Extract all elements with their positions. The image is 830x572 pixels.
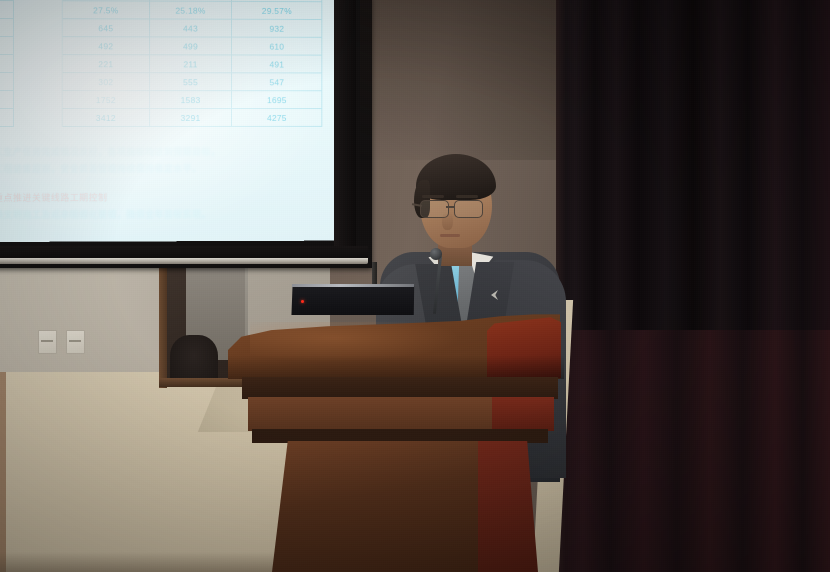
- cell-value: 555: [149, 73, 231, 91]
- eyeglasses-bridge: [446, 206, 455, 208]
- laptop-lid-edge: [292, 284, 414, 287]
- podium-top-red-panel: [487, 316, 561, 378]
- doorway-frame-left: [159, 268, 167, 388]
- row-label: 土工: [0, 18, 14, 36]
- presentation-photo: 合计 4050 3841 5478 27.5% 25.18% 29.57%: [0, 0, 830, 572]
- laptop-computer[interactable]: [291, 285, 414, 315]
- table-row: 石方 492 499 610: [0, 36, 322, 55]
- cell-value: 29.57%: [232, 1, 322, 19]
- podium-trim-band-lower: [252, 429, 548, 443]
- row-spacer: [14, 55, 63, 73]
- cell-value: 610: [232, 37, 322, 55]
- eyeglasses-lens-right: [454, 200, 483, 218]
- cell-value: 1752: [62, 91, 149, 109]
- cell-value: 221: [62, 55, 149, 73]
- row-spacer: [14, 73, 63, 91]
- podium-mid-red-panel: [492, 397, 554, 431]
- stage-riser-edge: [0, 372, 6, 572]
- cell-value: 491: [232, 55, 322, 73]
- cell-value: 3291: [149, 109, 231, 127]
- table-row: 27.5% 25.18% 29.57%: [0, 0, 322, 19]
- stage-floor-shadow: [0, 552, 300, 572]
- doorway-frame-bottom: [159, 378, 251, 387]
- slide-note-gap: [0, 177, 313, 190]
- cell-value: 3412: [62, 109, 149, 127]
- row-label: 钢筋工: [0, 72, 14, 90]
- row-spacer: [14, 91, 63, 109]
- row-spacer: [14, 109, 63, 127]
- slide-note-line: 本年度施工生产任务完成情况良好，各项指标均达到预期目标，: [0, 144, 313, 161]
- laptop-power-led-icon: [301, 300, 304, 303]
- table-row: 小计 3412 3291 4275: [0, 108, 322, 126]
- row-label: [0, 0, 14, 18]
- table-row: 土工 645 443 932: [0, 18, 322, 37]
- slide-note-line: 其中主体工程进度超前，安全质量管理持续保持稳定水平。: [0, 161, 313, 179]
- row-spacer: [14, 19, 63, 37]
- cell-value: 492: [62, 37, 149, 55]
- slide-data-table: 合计 4050 3841 5478 27.5% 25.18% 29.57%: [0, 0, 322, 127]
- slide-note-line: 并加强现场文明施工及成本精细化管理，确保全年目标实现。: [0, 206, 313, 224]
- cell-value: 547: [232, 73, 322, 91]
- wall-switch-right-icon[interactable]: [66, 330, 85, 354]
- podium-trim-band-upper: [242, 377, 558, 399]
- stage-curtain-lower: [556, 330, 830, 572]
- row-label: 模板工具: [0, 54, 14, 72]
- projection-screen: 合计 4050 3841 5478 27.5% 25.18% 29.57%: [0, 0, 340, 242]
- microphone-icon: [430, 248, 442, 260]
- cell-value: 302: [62, 73, 149, 91]
- cell-value: 27.5%: [62, 1, 149, 19]
- screen-roller-bar: [0, 258, 368, 264]
- projection-screen-frame: 合计 4050 3841 5478 27.5% 25.18% 29.57%: [0, 0, 372, 268]
- projection-screen-right-border: [334, 0, 356, 248]
- cell-value: 1583: [149, 91, 231, 109]
- cell-value: 4275: [232, 109, 322, 127]
- table-row: 砼工 1752 1583 1695: [0, 90, 322, 108]
- cell-value: 443: [149, 19, 231, 37]
- row-spacer: [14, 37, 63, 55]
- cell-value: 645: [62, 19, 149, 37]
- cell-value: 1695: [232, 91, 322, 109]
- table-row: 钢筋工 302 555 547: [0, 72, 322, 90]
- row-label: 石方: [0, 36, 14, 54]
- projected-slide: 合计 4050 3841 5478 27.5% 25.18% 29.57%: [0, 0, 332, 240]
- cell-value: 211: [149, 55, 231, 73]
- row-label: 砼工: [0, 90, 14, 108]
- row-spacer: [14, 1, 63, 19]
- eyebrow-left: [422, 195, 444, 198]
- mouth: [440, 234, 460, 237]
- nose: [442, 212, 453, 230]
- cell-value: 25.18%: [149, 1, 231, 19]
- cell-value: 499: [149, 37, 231, 55]
- eyebrow-right: [456, 195, 478, 198]
- slide-note-line: 下一阶段重点推进关键线路工期控制: [0, 189, 313, 207]
- cell-value: 932: [232, 19, 322, 37]
- wall-switch-left-icon[interactable]: [38, 330, 57, 354]
- table-row: 模板工具 221 211 491: [0, 54, 322, 73]
- slide-notes-block: 本年度施工生产任务完成情况良好，各项指标均达到预期目标， 其中主体工程进度超前，…: [0, 144, 313, 224]
- row-label-total: 小计: [0, 108, 14, 126]
